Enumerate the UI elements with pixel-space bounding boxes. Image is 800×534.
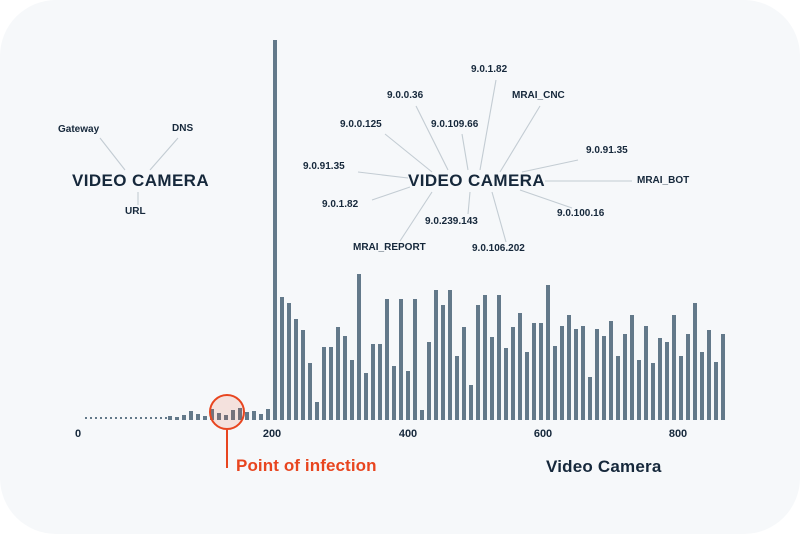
right-spoke-9-0-91-35-right: 9.0.91.35	[586, 145, 628, 156]
right-spoke-mrai-bot: MRAI_BOT	[637, 175, 689, 186]
x-tick-label: 400	[399, 428, 417, 440]
bar	[203, 416, 207, 420]
bar	[413, 299, 417, 420]
infographic-card: 0200400600800 Video Camera VIDEO CAMERA	[0, 0, 800, 534]
bar	[322, 347, 326, 420]
bar	[483, 295, 487, 420]
bar	[532, 323, 536, 420]
bar	[630, 315, 634, 420]
bar	[553, 346, 557, 420]
bar	[679, 356, 683, 420]
bar	[623, 334, 627, 420]
bar	[672, 315, 676, 420]
bar	[462, 327, 466, 420]
bar	[273, 40, 277, 420]
bar	[434, 290, 438, 420]
bar	[581, 326, 585, 420]
bar	[287, 303, 291, 420]
bar	[588, 377, 592, 420]
bar	[329, 347, 333, 420]
dotted-baseline	[85, 417, 167, 419]
point-of-infection-label: Point of infection	[236, 456, 377, 476]
right-spoke-mrai-report: MRAI_REPORT	[353, 242, 426, 253]
bar	[280, 297, 284, 420]
bar	[420, 410, 424, 420]
bar	[196, 414, 200, 420]
bar	[455, 356, 459, 420]
left-spoke-gateway: Gateway	[58, 124, 99, 135]
bar	[441, 305, 445, 420]
bar	[511, 327, 515, 420]
x-tick-label: 600	[534, 428, 552, 440]
bar	[658, 338, 662, 420]
bar	[385, 299, 389, 420]
bar	[182, 415, 186, 420]
right-spoke-9-0-100-16: 9.0.100.16	[557, 208, 604, 219]
bar	[539, 323, 543, 420]
bar	[469, 385, 473, 420]
right-spoke-9-0-1-82-left: 9.0.1.82	[322, 199, 358, 210]
left-spoke-dns: DNS	[172, 123, 193, 134]
bar	[308, 363, 312, 420]
right-cluster-center-label: VIDEO CAMERA	[408, 171, 545, 191]
right-spoke-9-0-91-35-left: 9.0.91.35	[303, 161, 345, 172]
bar	[357, 274, 361, 420]
bar	[518, 313, 522, 420]
point-of-infection-highlight	[209, 394, 245, 430]
bar	[490, 337, 494, 420]
bar	[574, 329, 578, 420]
bar	[616, 356, 620, 420]
bar	[651, 363, 655, 420]
bar	[364, 373, 368, 420]
x-tick-label: 0	[75, 428, 81, 440]
left-cluster-center-label: VIDEO CAMERA	[72, 171, 209, 191]
bar	[371, 344, 375, 420]
bar	[301, 330, 305, 420]
bar	[686, 334, 690, 420]
right-spoke-9-0-0-36: 9.0.0.36	[387, 90, 423, 101]
bar	[721, 334, 725, 420]
bar	[175, 417, 179, 420]
x-tick-label: 800	[669, 428, 687, 440]
bar	[609, 321, 613, 420]
right-spoke-9-0-106-202: 9.0.106.202	[472, 243, 525, 254]
x-axis-ticks: 0200400600800	[0, 428, 800, 444]
bar	[315, 402, 319, 420]
bars-container	[0, 0, 800, 534]
bar	[189, 411, 193, 420]
bar	[266, 409, 270, 420]
bar	[637, 360, 641, 420]
bar	[336, 327, 340, 420]
bar	[644, 326, 648, 420]
bar	[259, 414, 263, 420]
bar	[399, 299, 403, 420]
right-spoke-9-0-109-66: 9.0.109.66	[431, 119, 478, 130]
bar	[693, 303, 697, 420]
bar-chart: 0200400600800 Video Camera	[0, 0, 800, 534]
bar	[378, 344, 382, 420]
bar	[427, 342, 431, 420]
bar	[168, 416, 172, 420]
right-spoke-9-0-1-82-top: 9.0.1.82	[471, 64, 507, 75]
bar	[252, 411, 256, 420]
bar	[497, 295, 501, 420]
bar	[406, 371, 410, 420]
bar	[504, 348, 508, 420]
bar	[294, 319, 298, 420]
bar	[714, 362, 718, 420]
bar	[350, 360, 354, 420]
bar	[343, 336, 347, 420]
bar	[448, 290, 452, 420]
bar	[476, 305, 480, 420]
bar	[560, 326, 564, 420]
x-axis-title: Video Camera	[546, 457, 661, 477]
bar	[546, 285, 550, 420]
left-spoke-url: URL	[125, 206, 146, 217]
right-spoke-9-0-239-143: 9.0.239.143	[425, 216, 478, 227]
bar	[567, 315, 571, 420]
bar	[392, 366, 396, 420]
right-spoke-mrai-cnc: MRAI_CNC	[512, 90, 565, 101]
right-spoke-9-0-0-125: 9.0.0.125	[340, 119, 382, 130]
point-of-infection-leader-line	[226, 430, 228, 468]
bar	[602, 336, 606, 420]
x-tick-label: 200	[263, 428, 281, 440]
bar	[707, 330, 711, 420]
bar	[525, 352, 529, 420]
bar	[665, 342, 669, 420]
bar	[595, 329, 599, 420]
bar	[245, 412, 249, 420]
bar	[700, 352, 704, 420]
